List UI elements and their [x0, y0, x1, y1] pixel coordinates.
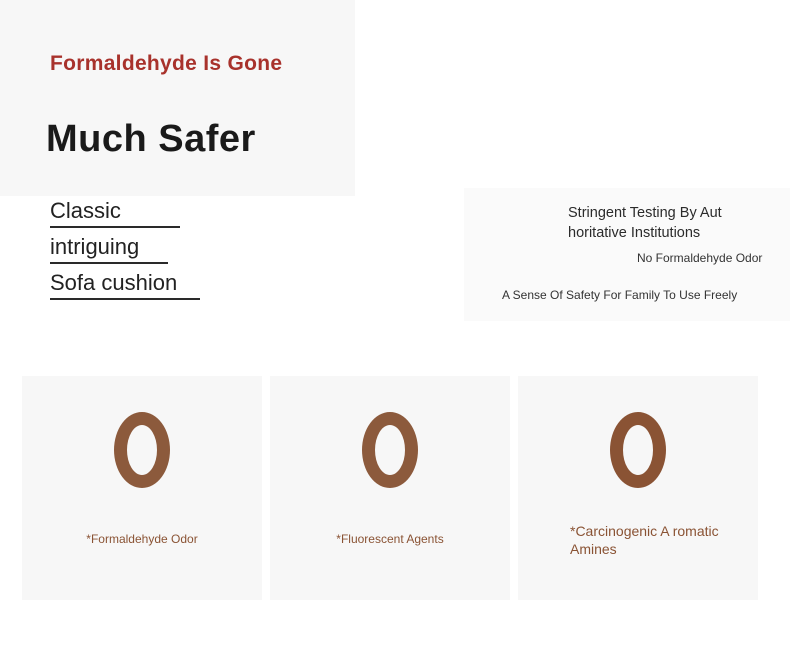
headline-red: Formaldehyde Is Gone	[50, 52, 282, 76]
classic-underline-1	[50, 226, 180, 228]
classic-row-2: intriguing	[50, 236, 280, 264]
feature-cards: *Formaldehyde Odor *Fluorescent Agents *…	[22, 376, 758, 600]
zero-ring-icon	[362, 412, 418, 488]
zero-ring-icon	[610, 412, 666, 488]
no-formaldehyde-odor-text: No Formaldehyde Odor	[637, 251, 762, 265]
zero-ring-icon	[114, 412, 170, 488]
classic-line-2: intriguing	[50, 236, 139, 261]
classic-block: Classic intriguing Sofa cushion	[50, 200, 280, 308]
feature-card: *Fluorescent Agents	[270, 376, 510, 600]
classic-row-1: Classic	[50, 200, 280, 228]
feature-card-caption: *Fluorescent Agents	[270, 531, 510, 547]
feature-card-caption: *Formaldehyde Odor	[22, 531, 262, 547]
family-safety-text: A Sense Of Safety For Family To Use Free…	[502, 288, 737, 302]
classic-underline-3	[50, 298, 200, 300]
feature-card: *Carcinogenic A romatic Amines	[518, 376, 758, 600]
feature-card: *Formaldehyde Odor	[22, 376, 262, 600]
classic-line-1: Classic	[50, 200, 121, 225]
feature-card-caption: *Carcinogenic A romatic Amines	[518, 522, 758, 558]
promo-page: Formaldehyde Is Gone Much Safer Classic …	[0, 0, 790, 661]
classic-row-3: Sofa cushion	[50, 272, 280, 300]
testing-text: Stringent Testing By Aut horitative Inst…	[568, 204, 768, 243]
headline-black: Much Safer	[46, 118, 256, 161]
classic-underline-2	[50, 262, 168, 264]
top-background-panel	[0, 0, 355, 196]
classic-line-3: Sofa cushion	[50, 272, 177, 297]
